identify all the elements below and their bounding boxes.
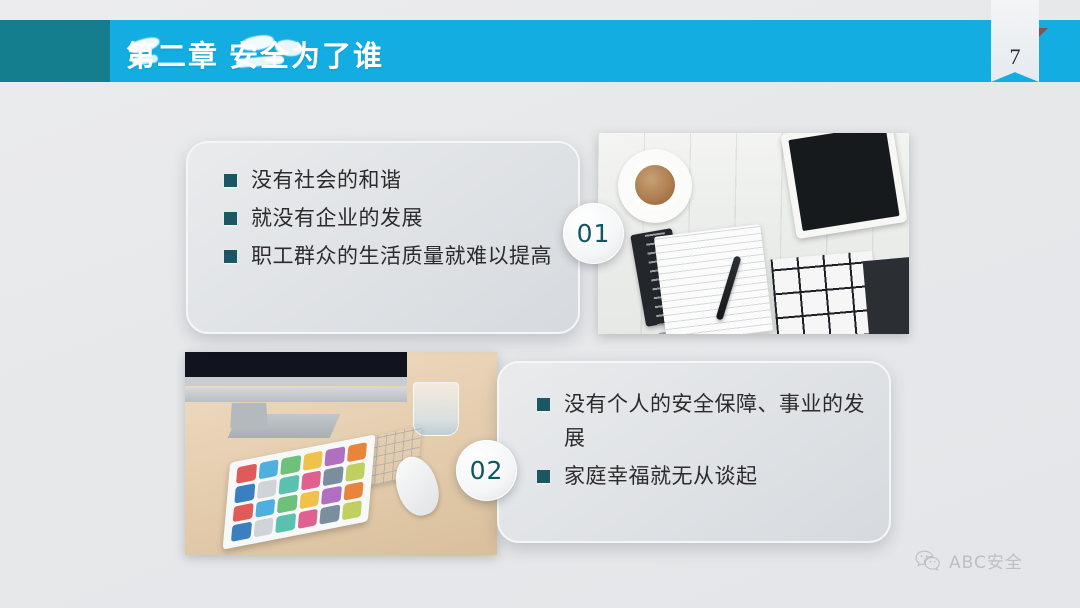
bullet-list: 没有社会的和谐 就没有企业的发展 职工群众的生活质量就难以提高	[224, 163, 562, 277]
bullet-list: 没有个人的安全保障、事业的发展 家庭幸福就无从谈起	[537, 387, 873, 497]
number-badge-02: 02	[456, 440, 517, 501]
list-item: 没有社会的和谐	[224, 163, 562, 197]
ribbon-fold-icon	[1039, 28, 1048, 37]
watermark: ABC安全	[915, 548, 1023, 573]
content-card-02: 没有个人的安全保障、事业的发展 家庭幸福就无从谈起	[497, 361, 891, 543]
coffee-cup-shape	[629, 159, 681, 211]
bullet-text: 职工群众的生活质量就难以提高	[251, 239, 552, 273]
watermark-text: ABC安全	[949, 548, 1023, 573]
bullet-square-icon	[537, 470, 550, 483]
bullet-text: 没有个人的安全保障、事业的发展	[564, 387, 873, 455]
list-item: 就没有企业的发展	[224, 201, 562, 235]
header-left-accent-block	[0, 20, 110, 82]
bullet-square-icon	[224, 212, 237, 225]
photo-desk-flatlay	[598, 133, 909, 334]
notebook-shape	[654, 224, 773, 334]
list-item: 职工群众的生活质量就难以提高	[224, 239, 562, 273]
imac-chin-shape	[185, 388, 407, 402]
list-item: 没有个人的安全保障、事业的发展	[537, 387, 873, 455]
number-badge-01: 01	[563, 203, 624, 264]
bullet-square-icon	[224, 250, 237, 263]
bullet-square-icon	[224, 174, 237, 187]
page-number: 7	[991, 44, 1039, 70]
slide-canvas: 第二章 安全为了谁 7	[0, 0, 1080, 608]
bullet-square-icon	[537, 398, 550, 411]
photo-imac-desk	[185, 352, 497, 555]
imac-screen-shape	[185, 352, 407, 386]
page-title: 第二章 安全为了谁	[126, 33, 384, 75]
black-pad-shape	[863, 257, 909, 334]
bullet-text: 没有社会的和谐	[251, 163, 402, 197]
tablet-shape	[780, 133, 907, 239]
content-card-01: 没有社会的和谐 就没有企业的发展 职工群众的生活质量就难以提高	[186, 141, 580, 334]
bullet-text: 就没有企业的发展	[251, 201, 423, 235]
wechat-icon	[915, 550, 941, 572]
bullet-text: 家庭幸福就无从谈起	[564, 459, 758, 493]
imac-stand-shape	[230, 403, 268, 428]
list-item: 家庭幸福就无从谈起	[537, 459, 873, 493]
